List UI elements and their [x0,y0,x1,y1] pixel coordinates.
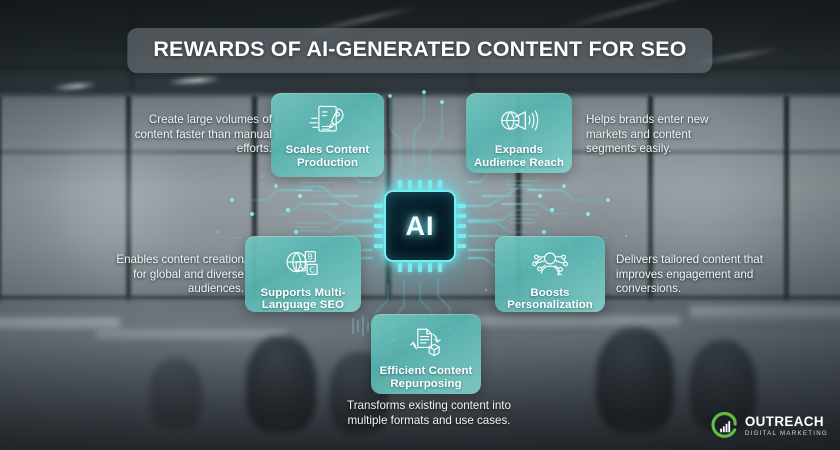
card-title-line1: Boosts [507,287,593,300]
card-supports-multi-language-seo[interactable]: B A C Supports Multi- Language SEO [245,236,361,312]
card-title-line1: Supports Multi- [260,287,345,300]
logo-text-block: OUTREACH DIGITAL MARKETING [745,415,828,437]
page-title: REWARDS OF AI-GENERATED CONTENT FOR SEO [153,37,686,62]
svg-text:A: A [298,262,303,271]
desc-boosts-personalization: Delivers tailored content that improves … [616,253,776,297]
title-plate: REWARDS OF AI-GENERATED CONTENT FOR SEO [127,28,712,73]
svg-text:B: B [308,252,313,261]
card-title: Supports Multi- Language SEO [256,287,349,312]
card-title-line1: Expands [474,144,564,157]
document-recycle-cube-icon [406,324,446,360]
person-network-icon [530,246,570,282]
ai-chip: AI [376,182,464,270]
svg-text:C: C [309,265,314,274]
card-title-line2: Personalization [507,299,593,312]
card-title: Expands Audience Reach [470,144,568,169]
desc-efficient-content-repurposing: Transforms existing content into multipl… [336,399,522,428]
desc-supports-multi-language-seo: Enables content creation for global and … [104,253,244,297]
card-title-line1: Efficient Content [380,365,473,378]
infographic-canvas: REWARDS OF AI-GENERATED CONTENT FOR SEO … [0,0,840,450]
card-title: Efficient Content Repurposing [376,365,477,390]
chip-die: AI [384,190,456,262]
card-title-line2: Production [286,157,370,170]
card-title: Boosts Personalization [503,287,597,312]
brand-logo[interactable]: OUTREACH DIGITAL MARKETING [711,412,828,440]
globe-megaphone-icon [499,103,539,139]
chip-label: AI [406,211,435,242]
card-efficient-content-repurposing[interactable]: Efficient Content Repurposing [371,314,481,394]
desc-scales-content-production: Create large volumes of content faster t… [120,113,272,157]
card-boosts-personalization[interactable]: Boosts Personalization [495,236,605,312]
card-title-line2: Audience Reach [474,157,564,170]
document-rocket-icon [308,103,348,139]
desc-expands-audience-reach: Helps brands enter new markets and conte… [586,113,744,157]
card-title-line1: Scales Content [286,144,370,157]
logo-tagline: DIGITAL MARKETING [745,431,828,437]
card-title: Scales Content Production [282,144,374,169]
globe-letters-icon: B A C [283,246,323,282]
outreach-ring-bars-logo [711,412,739,440]
card-title-line2: Repurposing [380,378,473,391]
card-scales-content-production[interactable]: Scales Content Production [271,93,384,177]
card-title-line2: Language SEO [260,299,345,312]
logo-name: OUTREACH [745,415,828,428]
card-expands-audience-reach[interactable]: Expands Audience Reach [466,93,572,173]
